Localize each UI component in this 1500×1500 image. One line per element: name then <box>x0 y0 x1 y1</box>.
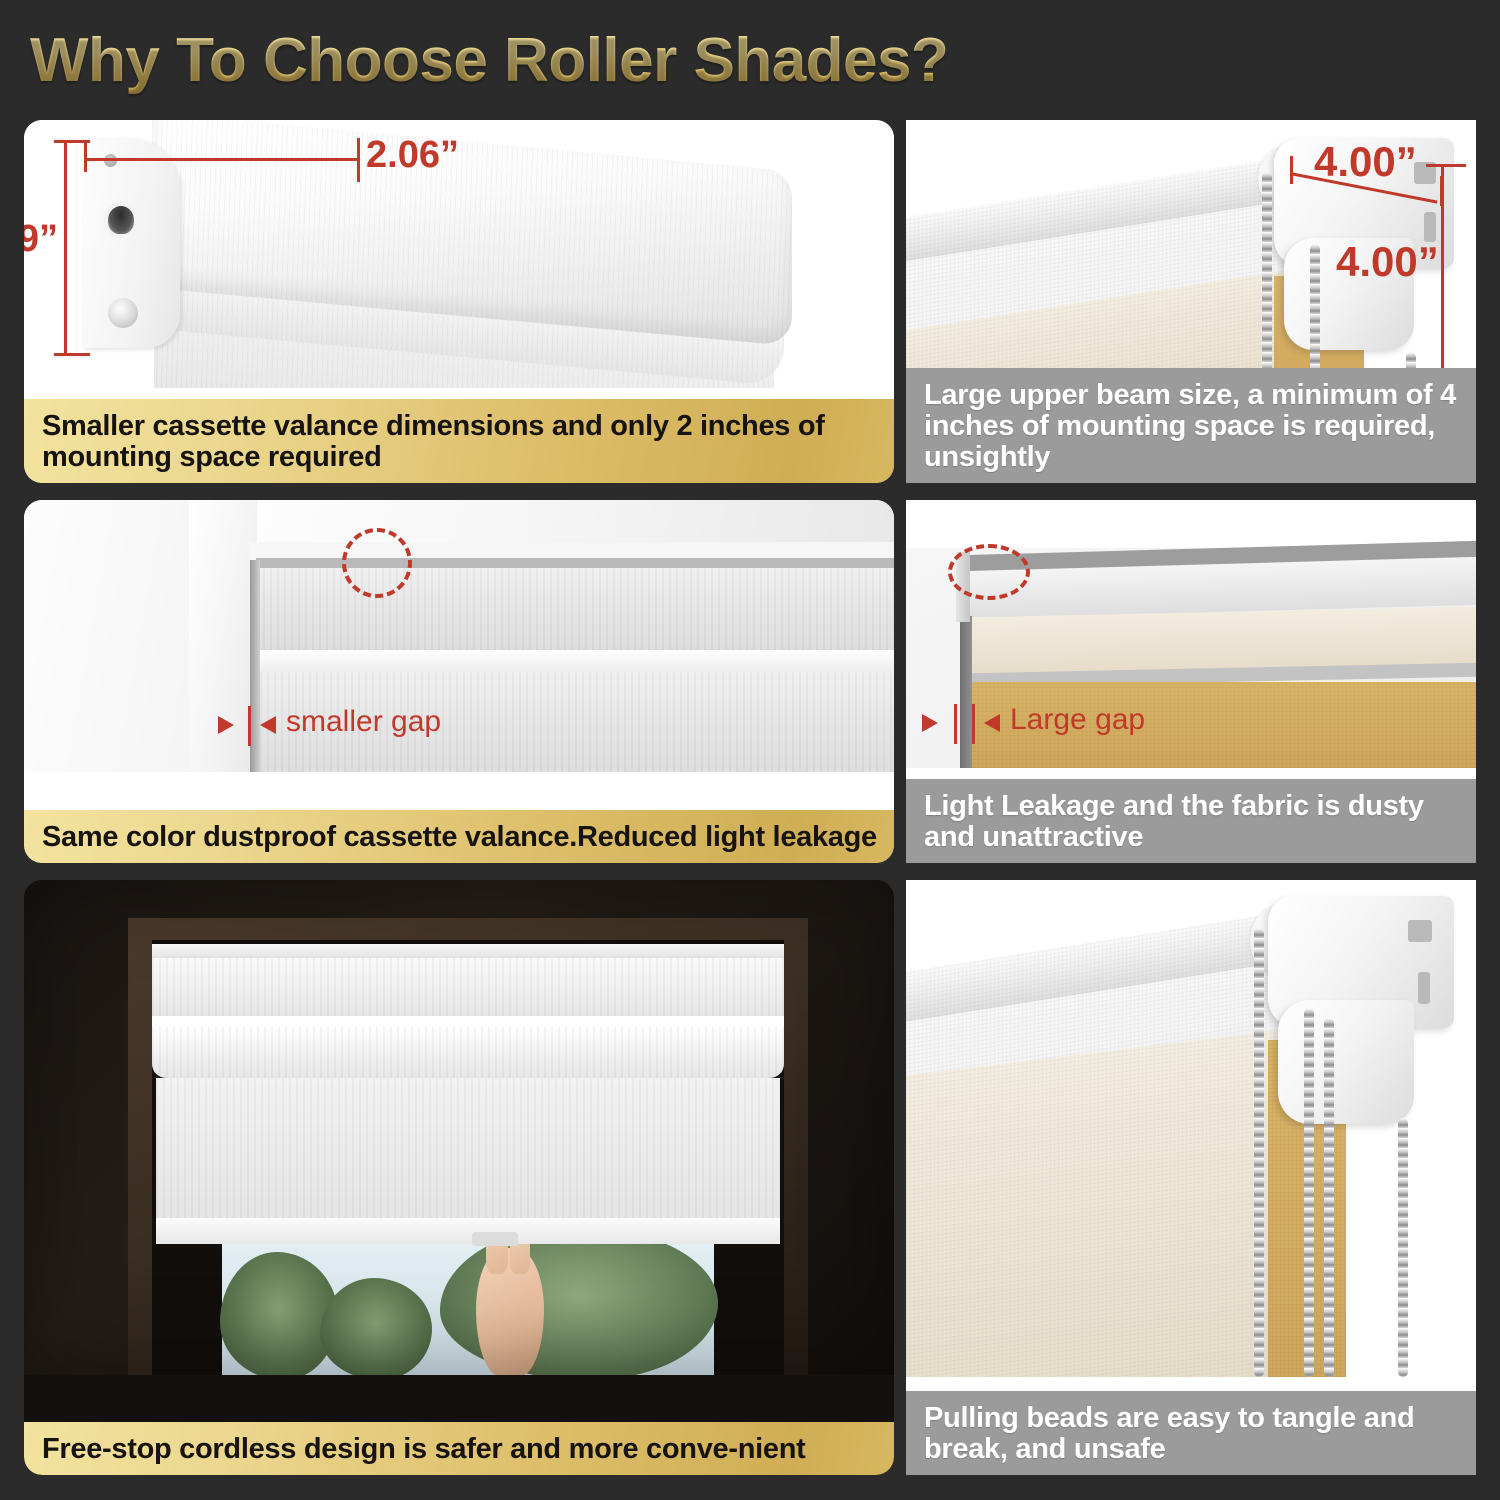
tree-left-icon <box>220 1252 338 1375</box>
panel-3-photo: smaller gap <box>24 500 894 772</box>
large-gap-marker-1 <box>954 704 957 744</box>
highlight-circle-right <box>948 544 1030 600</box>
gap-marker-line <box>248 706 251 746</box>
height-dim-label: 5.49” <box>24 218 58 261</box>
width-dim-tick-right <box>357 138 360 182</box>
panel-1-photo: 2.06” 5.49” <box>24 120 894 388</box>
bead-chain-6-2 <box>1304 1008 1314 1377</box>
shade-fabric-main <box>156 1078 780 1226</box>
gap-arrow-left-icon <box>218 716 234 734</box>
bead-chain-6-4 <box>1398 1118 1408 1377</box>
free-stop-mechanism-icon <box>104 202 138 238</box>
beam-height-label: 4.00” <box>1336 238 1439 286</box>
large-gap-label: Large gap <box>1010 703 1145 737</box>
panel-4-photo: Large gap <box>906 500 1476 768</box>
panel-large-upper-beam: 4.00” 4.00” Large upper beam size, a min… <box>906 120 1476 483</box>
panel-3-caption: Same color dustproof cassette valance.Re… <box>24 810 894 863</box>
cassette-top-cap <box>152 944 784 958</box>
panel-2-caption: Large upper beam size, a minimum of 4 in… <box>906 368 1476 483</box>
bead-chain-1 <box>1262 172 1272 394</box>
valance-end-cap <box>82 138 180 348</box>
smaller-gap-label: smaller gap <box>286 705 441 739</box>
cassette-valance-front <box>152 958 784 1016</box>
beam-width-label: 4.00” <box>1314 138 1417 186</box>
cassette-lip <box>152 1016 784 1026</box>
height-dim-tick-bottom <box>54 353 90 356</box>
panel-cordless-design: Free-stop cordless design is safer and m… <box>24 880 894 1475</box>
panel-5-caption: Free-stop cordless design is safer and m… <box>24 1422 894 1475</box>
large-gap-arrow-left-icon <box>922 714 938 732</box>
shade-side-edge <box>250 560 260 772</box>
width-dim-line <box>84 158 360 161</box>
panel-5-photo <box>24 880 894 1375</box>
cream-shade-fabric <box>906 1030 1280 1377</box>
bottom-rail-handle <box>472 1232 518 1246</box>
panel-dustproof-valance: smaller gap Same color dustproof cassett… <box>24 500 894 863</box>
panel-smaller-cassette: 2.06” 5.49” Smaller cassette valance dim… <box>24 120 894 483</box>
bracket-notch-6-mid <box>1418 972 1430 1004</box>
page-title: Why To Choose Roller Shades? <box>30 22 1230 100</box>
valance-bottom-rail <box>256 650 894 672</box>
bracket-notch-6-top <box>1408 920 1432 942</box>
large-gap-marker-2 <box>972 704 975 744</box>
panel-1-caption: Smaller cassette valance dimensions and … <box>24 399 894 483</box>
shade-bottom-rail <box>156 1218 780 1244</box>
bead-chain-6-1 <box>1254 928 1264 1377</box>
width-dim-tick-left <box>84 142 87 172</box>
highlight-circle <box>342 528 412 598</box>
panel-4-caption: Light Leakage and the fabric is dusty an… <box>906 779 1476 863</box>
window-frame-right-panel <box>906 500 1476 548</box>
width-dim-label: 2.06” <box>366 134 459 177</box>
light-gap-strip <box>960 616 972 768</box>
panel-pulling-beads: Pulling beads are easy to tangle and bre… <box>906 880 1476 1475</box>
tree-center-icon <box>320 1278 432 1375</box>
panel-light-leakage: Large gap Light Leakage and the fabric i… <box>906 500 1476 863</box>
large-gap-arrow-right-icon <box>984 714 1000 732</box>
beam-height-dim-line <box>1441 164 1444 372</box>
gap-arrow-right-icon <box>260 716 276 734</box>
panel-6-photo <box>906 880 1476 1377</box>
beam-height-tick-top <box>1426 164 1466 167</box>
cassette-roll-front <box>152 1026 784 1078</box>
height-dim-line <box>64 140 67 356</box>
height-dim-tick-top <box>54 140 90 143</box>
panel-2-photo: 4.00” 4.00” <box>906 120 1476 394</box>
beam-width-tick-left <box>1290 156 1293 184</box>
end-cap-screw-bottom-icon <box>108 298 138 328</box>
panel-6-caption: Pulling beads are easy to tangle and bre… <box>906 1391 1476 1475</box>
bead-chain-6-3 <box>1324 1018 1334 1377</box>
infographic-root: Why To Choose Roller Shades? 2.06” 5.49” <box>0 0 1500 1500</box>
mounting-bracket-6-bottom <box>1278 1000 1414 1124</box>
